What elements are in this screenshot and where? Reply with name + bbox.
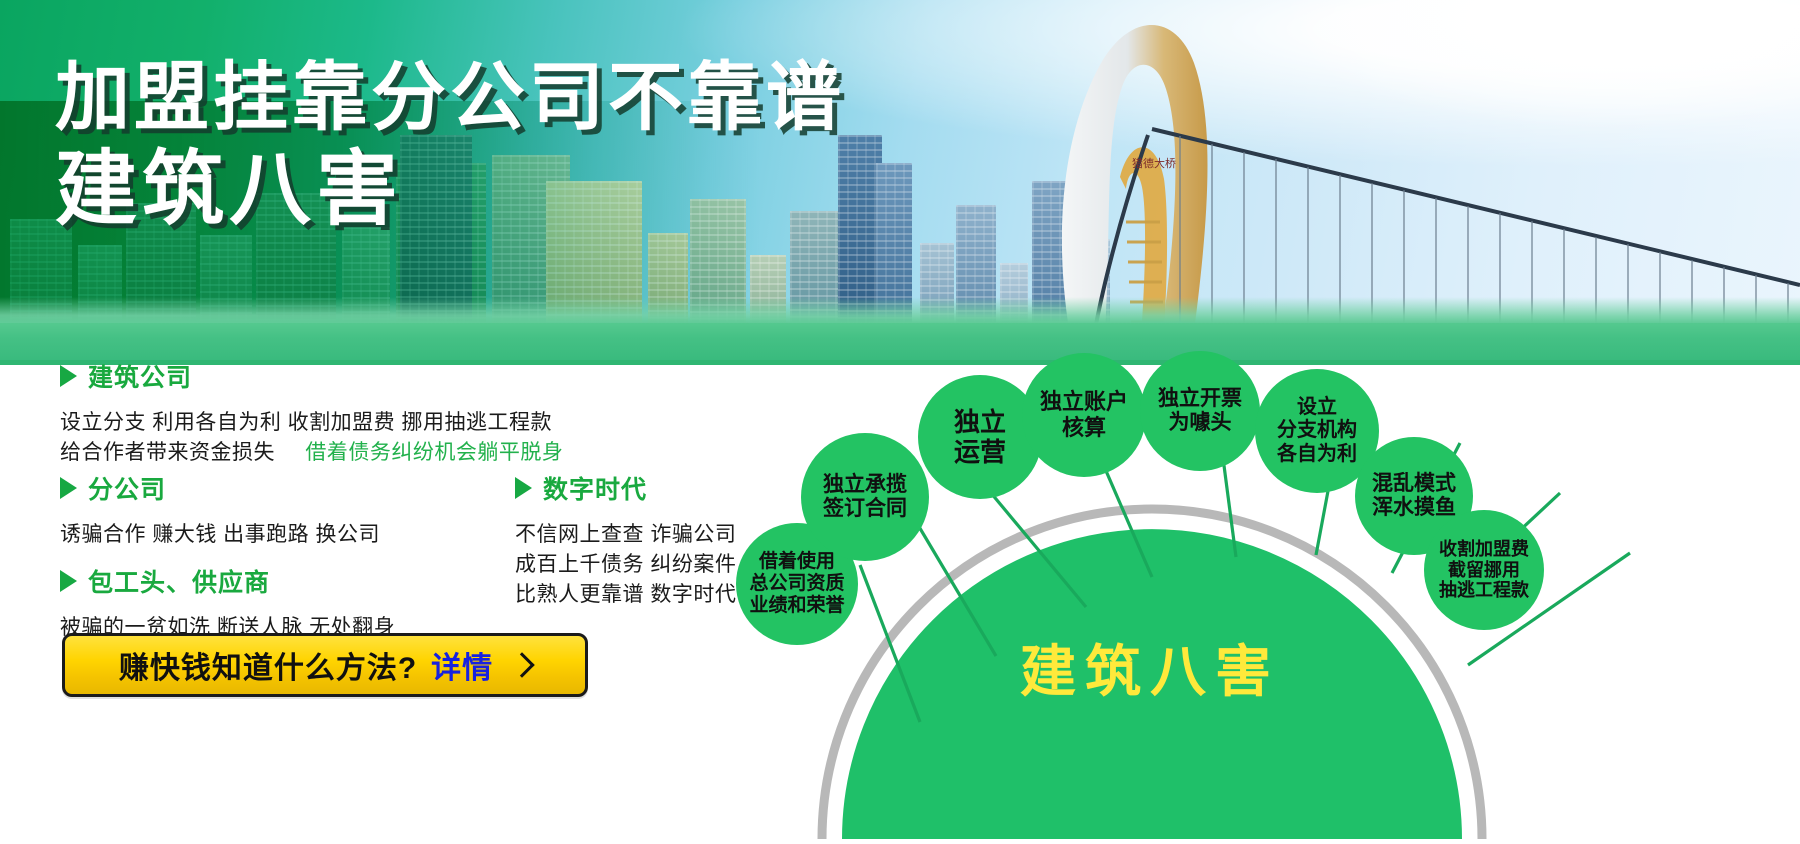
bahai-diagram: 建筑八害 借着使用 总公司资质 业绩和荣誉 独立承揽 签订合同 独立 运营 独立… <box>800 365 1800 844</box>
left-content: 建筑公司 设立分支 利用各自为利 收割加盟费 挪用抽逃工程款 给合作者带来资金损… <box>0 365 800 844</box>
bubble-independent-invoicing[interactable]: 独立开票 为噱头 <box>1140 351 1260 471</box>
section-contractor-supplier: 包工头、供应商 被骗的一贫如洗 断送人脉 无处翻身 <box>60 563 395 643</box>
section-title: 数字时代 <box>543 470 647 506</box>
headline-line-2: 建筑八害 <box>55 144 1015 236</box>
section-body: 设立分支 利用各自为利 收割加盟费 挪用抽逃工程款 给合作者带来资金损失 借着债… <box>60 408 563 468</box>
bubble-independent-operation[interactable]: 独立 运营 <box>918 375 1042 499</box>
bubble-text: 设立 分支机构 各自为利 <box>1277 396 1357 466</box>
section-title: 分公司 <box>88 470 166 506</box>
bubble-text: 混乱模式 浑水摸鱼 <box>1372 472 1456 521</box>
bridge-sign-label: 猎德大桥 <box>1132 156 1176 170</box>
section-construction-company: 建筑公司 设立分支 利用各自为利 收割加盟费 挪用抽逃工程款 给合作者带来资金损… <box>60 358 563 468</box>
section-branch-company: 分公司 诱骗合作 赚大钱 出事跑路 换公司 <box>60 470 380 550</box>
bubble-text: 独立 运营 <box>954 407 1006 467</box>
ground-haze <box>0 297 1800 323</box>
headline-line-1: 加盟挂靠分公司不靠谱 <box>55 58 1015 138</box>
bubble-text: 独立开票 为噱头 <box>1158 387 1242 436</box>
bubble-text: 独立承揽 签订合同 <box>823 473 907 522</box>
bubble-harvest-franchise-fee[interactable]: 收割加盟费 截留挪用 抽逃工程款 <box>1424 510 1544 630</box>
section-line-black: 给合作者带来资金损失 <box>60 441 275 464</box>
chevron-right-icon <box>509 652 534 677</box>
section-line: 诱骗合作 赚大钱 出事跑路 换公司 <box>60 520 380 550</box>
section-line-green: 借着债务纠纷机会躺平脱身 <box>305 441 563 464</box>
section-line: 不信网上查查 诈骗公司 <box>515 520 736 550</box>
cta-main-label: 赚快钱知道什么方法? <box>119 643 417 687</box>
section-header: 包工头、供应商 <box>60 563 395 599</box>
triangle-bullet-icon <box>60 570 77 592</box>
section-body: 诱骗合作 赚大钱 出事跑路 换公司 <box>60 520 380 550</box>
bridge-main-cable <box>1152 129 1800 285</box>
section-header: 数字时代 <box>515 470 736 506</box>
cta-button[interactable]: 赚快钱知道什么方法? 详情 <box>62 633 588 697</box>
bubble-text: 借着使用 总公司资质 业绩和荣誉 <box>749 551 844 617</box>
poster-root: 猎德大桥 加盟挂靠分公司不靠谱 建筑八害 建筑公司 设立分支 利用各自为利 收割… <box>0 0 1800 844</box>
section-header: 分公司 <box>60 470 380 506</box>
section-digital-era: 数字时代 不信网上查查 诈骗公司 成百上千债务 纠纷案件 比熟人更靠谱 数字时代 <box>515 470 736 609</box>
section-line: 比熟人更靠谱 数字时代 <box>515 580 736 610</box>
hero-headline: 加盟挂靠分公司不靠谱 建筑八害 <box>55 58 1015 235</box>
section-line: 设立分支 利用各自为利 收割加盟费 挪用抽逃工程款 <box>60 408 563 438</box>
bubble-text: 收割加盟费 截留挪用 抽逃工程款 <box>1439 539 1529 602</box>
bubble-independent-account[interactable]: 独立账户 核算 <box>1022 353 1146 477</box>
section-header: 建筑公司 <box>60 358 563 394</box>
section-line: 成百上千债务 纠纷案件 <box>515 550 736 580</box>
cta-details-link[interactable]: 详情 <box>431 643 493 687</box>
bubble-independent-contracting[interactable]: 独立承揽 签订合同 <box>801 433 929 561</box>
section-body: 不信网上查查 诈骗公司 成百上千债务 纠纷案件 比熟人更靠谱 数字时代 <box>515 520 736 609</box>
section-title: 建筑公司 <box>88 358 192 394</box>
hero-banner: 猎德大桥 加盟挂靠分公司不靠谱 建筑八害 <box>0 0 1800 365</box>
section-title: 包工头、供应商 <box>88 563 270 599</box>
triangle-bullet-icon <box>60 477 77 499</box>
bubble-text: 独立账户 核算 <box>1040 389 1128 440</box>
triangle-bullet-icon <box>60 365 77 387</box>
section-line: 给合作者带来资金损失 借着债务纠纷机会躺平脱身 <box>60 438 563 468</box>
triangle-bullet-icon <box>515 477 532 499</box>
